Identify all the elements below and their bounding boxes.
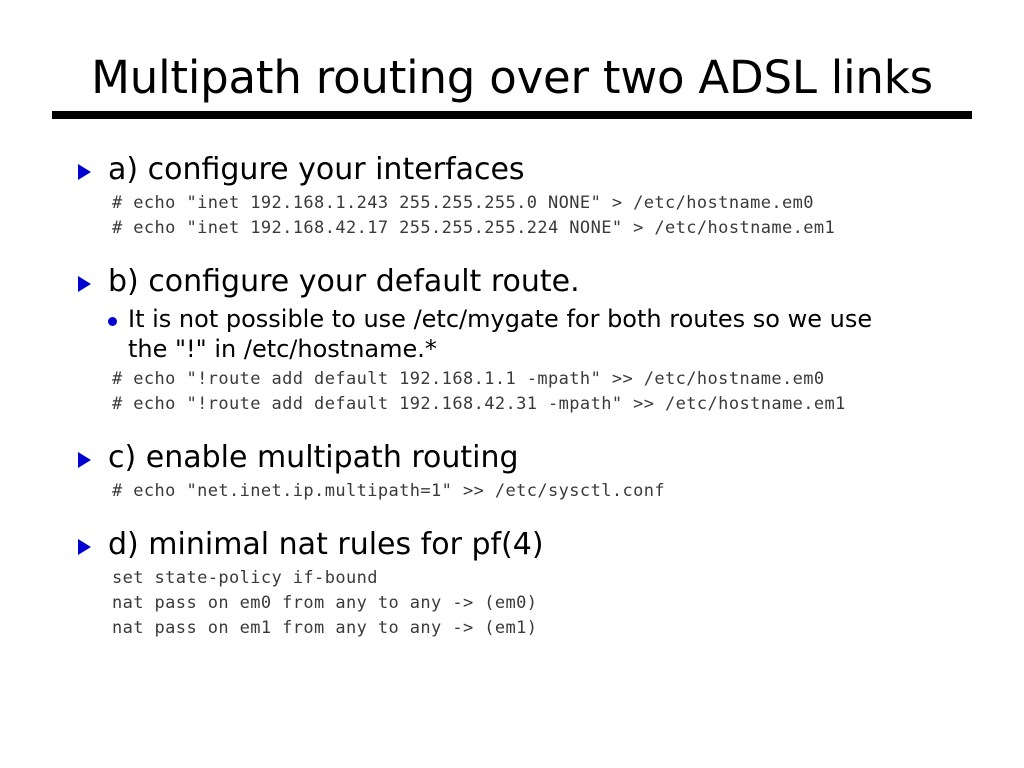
title-underline-rule bbox=[52, 111, 972, 119]
bullet-label-a: a) configure your interfaces bbox=[108, 152, 525, 187]
presentation-slide: Multipath routing over two ADSL links a)… bbox=[0, 0, 1024, 768]
code-line: # echo "inet 192.168.1.243 255.255.255.0… bbox=[112, 191, 1024, 216]
bullet-label-d: d) minimal nat rules for pf(4) bbox=[108, 527, 544, 562]
code-line: nat pass on em1 from any to any -> (em1) bbox=[112, 616, 1024, 641]
page-title: Multipath routing over two ADSL links bbox=[52, 52, 972, 104]
code-line: # echo "!route add default 192.168.42.31… bbox=[112, 392, 1024, 417]
code-block-c: # echo "net.inet.ip.multipath=1" >> /etc… bbox=[0, 479, 1024, 504]
bullet-item-a: a) configure your interfaces bbox=[0, 152, 1024, 188]
section-a: a) configure your interfaces # echo "ine… bbox=[0, 152, 1024, 241]
bullet-item-b: b) configure your default route. bbox=[0, 264, 1024, 300]
section-b: b) configure your default route. It is n… bbox=[0, 264, 1024, 417]
sub-bullet-label-b: It is not possible to use /etc/mygate fo… bbox=[128, 304, 918, 364]
code-line: # echo "net.inet.ip.multipath=1" >> /etc… bbox=[112, 479, 1024, 504]
code-line: # echo "!route add default 192.168.1.1 -… bbox=[112, 367, 1024, 392]
section-c: c) enable multipath routing # echo "net.… bbox=[0, 440, 1024, 504]
section-d: d) minimal nat rules for pf(4) set state… bbox=[0, 527, 1024, 641]
code-line: # echo "inet 192.168.42.17 255.255.255.2… bbox=[112, 216, 1024, 241]
bullet-item-d: d) minimal nat rules for pf(4) bbox=[0, 527, 1024, 563]
code-block-a: # echo "inet 192.168.1.243 255.255.255.0… bbox=[0, 191, 1024, 241]
code-block-d: set state-policy if-bound nat pass on em… bbox=[0, 566, 1024, 641]
slide-body: a) configure your interfaces # echo "ine… bbox=[0, 152, 1024, 641]
bullet-label-c: c) enable multipath routing bbox=[108, 440, 519, 475]
triangle-right-icon bbox=[78, 539, 91, 555]
code-line: nat pass on em0 from any to any -> (em0) bbox=[112, 591, 1024, 616]
triangle-right-icon bbox=[78, 164, 91, 180]
bullet-item-c: c) enable multipath routing bbox=[0, 440, 1024, 476]
code-block-b: # echo "!route add default 192.168.1.1 -… bbox=[0, 367, 1024, 417]
disc-icon bbox=[108, 317, 117, 326]
sub-bullet-item-b: It is not possible to use /etc/mygate fo… bbox=[0, 304, 1024, 364]
triangle-right-icon bbox=[78, 452, 91, 468]
bullet-label-b: b) configure your default route. bbox=[108, 264, 580, 299]
code-line: set state-policy if-bound bbox=[112, 566, 1024, 591]
title-block: Multipath routing over two ADSL links bbox=[52, 52, 972, 119]
triangle-right-icon bbox=[78, 276, 91, 292]
